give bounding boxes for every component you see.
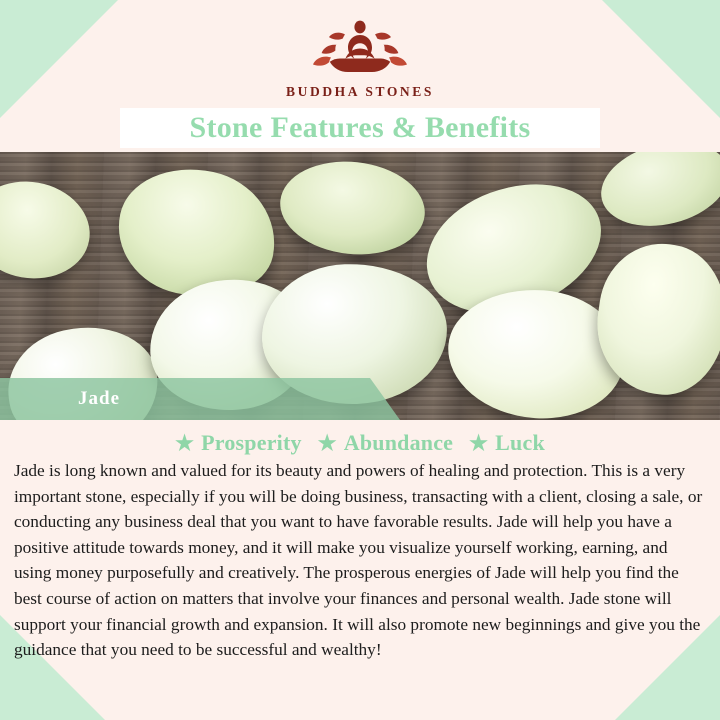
star-icon: ★: [318, 433, 337, 454]
page-title: Stone Features & Benefits: [0, 108, 720, 148]
brand-logo: BUDDHA STONES: [0, 14, 720, 100]
lotus-meditation-figure-icon: [304, 14, 416, 80]
description-text: Jade is long known and valued for its be…: [14, 458, 706, 663]
keyword-label: Luck: [495, 430, 545, 456]
brand-name: BUDDHA STONES: [0, 84, 720, 100]
keyword-label: Prosperity: [201, 430, 302, 456]
keyword-label: Abundance: [344, 430, 453, 456]
keyword-luck: ★ Luck: [469, 430, 545, 456]
star-icon: ★: [175, 433, 194, 454]
infographic-page: BUDDHA STONES Stone Features & Benefits …: [0, 0, 720, 720]
keyword-abundance: ★ Abundance: [318, 430, 453, 456]
star-icon: ★: [469, 433, 488, 454]
stone-name-label: Jade: [78, 388, 120, 410]
stone-label-band: [0, 378, 400, 420]
keyword-prosperity: ★ Prosperity: [175, 430, 302, 456]
keyword-row: ★ Prosperity ★ Abundance ★ Luck: [0, 430, 720, 456]
